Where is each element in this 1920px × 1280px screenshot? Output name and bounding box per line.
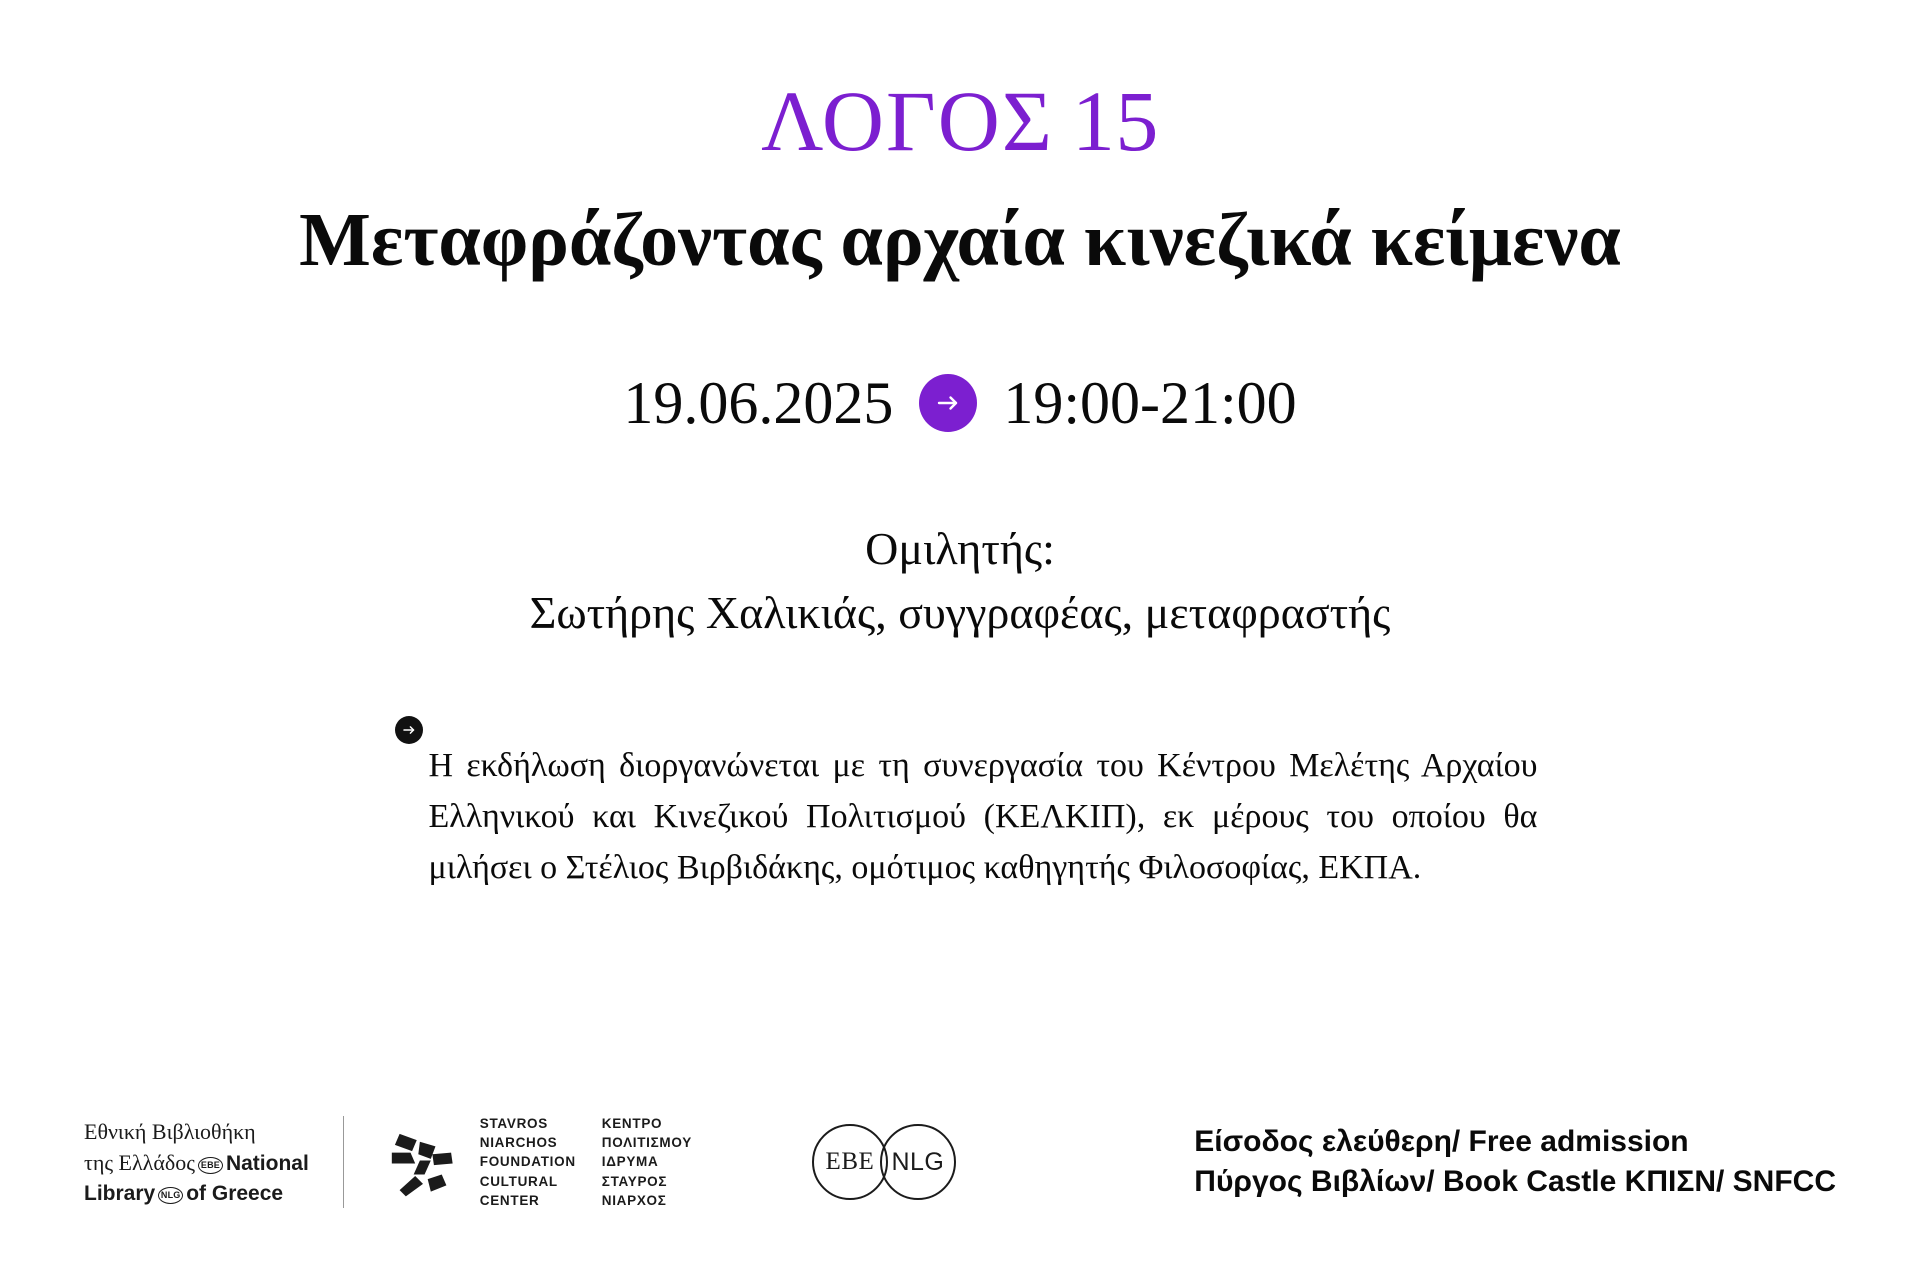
arrow-right-icon [919,374,977,432]
snfcc-gr-1: ΠΟΛΙΤΙΣΜΟΥ [602,1133,692,1152]
nlg-round-mark: NLG [880,1124,956,1200]
series-number: 15 [1072,73,1159,169]
nlg-wordmark-logo: Εθνική Βιβλιοθήκη της ΕλλάδοςEBENational… [84,1116,343,1209]
nlg-logo-line3-a: Library [84,1182,155,1205]
ebe-nlg-round-marks: EBE NLG [812,1124,956,1200]
admission-info: Είσοδος ελεύθερη/ Free admission Πύργος … [1194,1122,1836,1203]
snfcc-wordmark-english: STAVROS NIARCHOS FOUNDATION CULTURAL CEN… [480,1114,576,1210]
event-heading: Μεταφράζοντας αρχαία κινεζικά κείμενα [0,200,1920,281]
snfcc-en-2: FOUNDATION [480,1152,576,1171]
event-date: 19.06.2025 [623,373,893,433]
footer-divider [343,1116,344,1208]
footer: Εθνική Βιβλιοθήκη της ΕλλάδοςEBENational… [0,1100,1920,1224]
series-name: ΛΟΓΟΣ [761,73,1054,169]
snfcc-gr-2: ΙΔΡΥΜΑ [602,1152,692,1171]
nlg-logo-line3-b: of Greece [186,1182,283,1205]
speaker-label: Ομιλητής: [0,517,1920,580]
ebe-badge-icon: EBE [198,1157,223,1174]
admission-line-1: Είσοδος ελεύθερη/ Free admission [1194,1122,1836,1163]
snfcc-en-3: CULTURAL [480,1172,576,1191]
snfcc-wordmark: STAVROS NIARCHOS FOUNDATION CULTURAL CEN… [480,1114,692,1210]
event-poster: ΛΟΓΟΣ15 Μεταφράζοντας αρχαία κινεζικά κε… [0,0,1920,1280]
nlg-badge-icon: NLG [158,1187,183,1204]
snfcc-en-1: NIARCHOS [480,1133,576,1152]
admission-line-2: Πύργος Βιβλίων/ Book Castle ΚΠΙΣΝ/ SNFCC [1194,1162,1836,1203]
nlg-logo-line2-en: National [226,1152,309,1175]
snfcc-en-0: STAVROS [480,1114,576,1133]
nlg-logo-line2-gr: της Ελλάδος [84,1150,195,1175]
snfcc-en-4: CENTER [480,1191,576,1210]
nlg-logo-line1: Εθνική Βιβλιοθήκη [84,1119,256,1144]
snfcc-gr-3: ΣΤΑΥΡΟΣ [602,1172,692,1191]
note-block: Η εκδήλωση διοργανώνεται με τη συνεργασί… [383,706,1538,927]
ebe-round-mark: EBE [812,1124,888,1200]
datetime-row: 19.06.2025 19:00-21:00 [0,373,1920,433]
snfcc-gr-4: ΝΙΑΡΧΟΣ [602,1191,692,1210]
note-text: Η εκδήλωση διοργανώνεται με τη συνεργασί… [429,740,1538,893]
event-time: 19:00-21:00 [1003,373,1296,433]
arrow-right-bullet-icon [395,716,423,744]
series-title: ΛΟΓΟΣ15 [0,78,1920,164]
snfcc-logo: STAVROS NIARCHOS FOUNDATION CULTURAL CEN… [384,1114,692,1210]
speaker-block: Ομιλητής: Σωτήρης Χαλικιάς, συγγραφέας, … [0,517,1920,644]
speaker-name: Σωτήρης Χαλικιάς, συγγραφέας, μεταφραστή… [0,581,1920,644]
snfcc-gr-0: ΚΕΝΤΡΟ [602,1114,692,1133]
snfcc-mark-icon [384,1123,462,1201]
snfcc-wordmark-greek: ΚΕΝΤΡΟ ΠΟΛΙΤΙΣΜΟΥ ΙΔΡΥΜΑ ΣΤΑΥΡΟΣ ΝΙΑΡΧΟΣ [602,1114,692,1210]
